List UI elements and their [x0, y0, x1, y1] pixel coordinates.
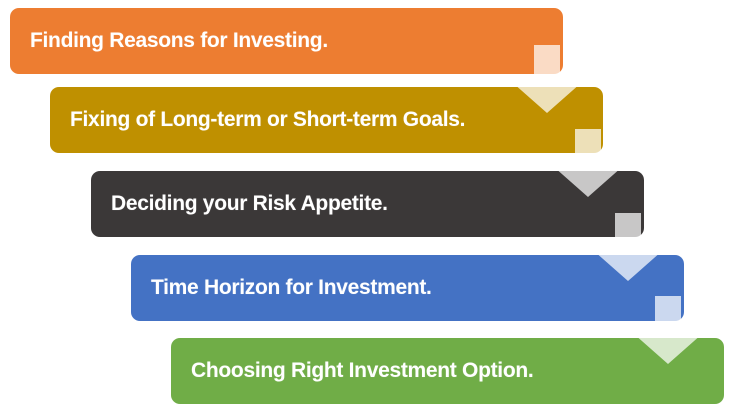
- step-box-3[interactable]: Deciding your Risk Appetite.: [91, 171, 644, 237]
- step-box-1[interactable]: Finding Reasons for Investing.: [10, 8, 563, 74]
- flow-diagram-canvas: Finding Reasons for Investing. Fixing of…: [0, 0, 730, 412]
- step-box-2[interactable]: Fixing of Long-term or Short-term Goals.: [50, 87, 603, 153]
- step-label-4: Time Horizon for Investment.: [131, 276, 446, 299]
- step-label-5: Choosing Right Investment Option.: [171, 359, 547, 382]
- step-box-4[interactable]: Time Horizon for Investment.: [131, 255, 684, 321]
- step-label-3: Deciding your Risk Appetite.: [91, 192, 402, 215]
- step-label-2: Fixing of Long-term or Short-term Goals.: [50, 108, 479, 131]
- step-box-5[interactable]: Choosing Right Investment Option.: [171, 338, 724, 404]
- step-label-1: Finding Reasons for Investing.: [10, 29, 342, 52]
